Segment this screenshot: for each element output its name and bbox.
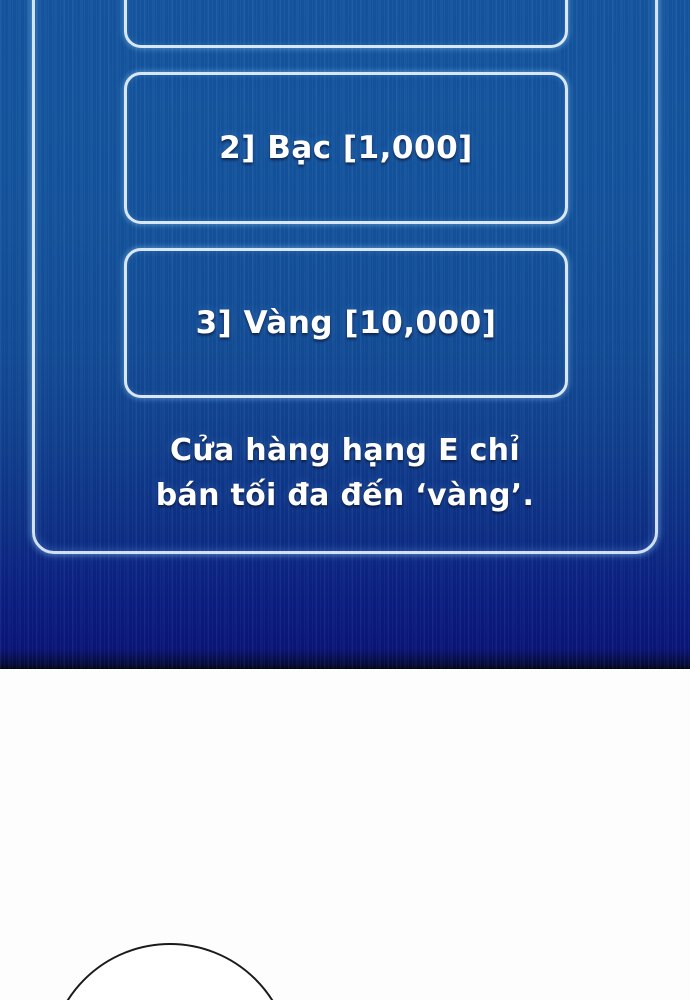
option-button-silver[interactable]: 2] Bạc [1,000] — [124, 72, 568, 224]
system-window-panel: 2] Bạc [1,000] 3] Vàng [10,000] Cửa hàng… — [0, 0, 690, 669]
comic-page: 2] Bạc [1,000] 3] Vàng [10,000] Cửa hàng… — [0, 0, 690, 1000]
option-button-gold[interactable]: 3] Vàng [10,000] — [124, 248, 568, 398]
shop-rank-footnote-line-1: Cửa hàng hạng E chỉ — [40, 428, 650, 473]
next-page-white-area — [0, 669, 690, 1000]
shop-rank-footnote-line-2: bán tối đa đến ‘vàng’. — [40, 473, 650, 518]
shop-rank-footnote: Cửa hàng hạng E chỉ bán tối đa đến ‘vàng… — [40, 428, 650, 518]
option-button-gold-label: 3] Vàng [10,000] — [196, 305, 497, 341]
option-button-1[interactable] — [124, 0, 568, 48]
option-button-silver-label: 2] Bạc [1,000] — [219, 130, 473, 166]
